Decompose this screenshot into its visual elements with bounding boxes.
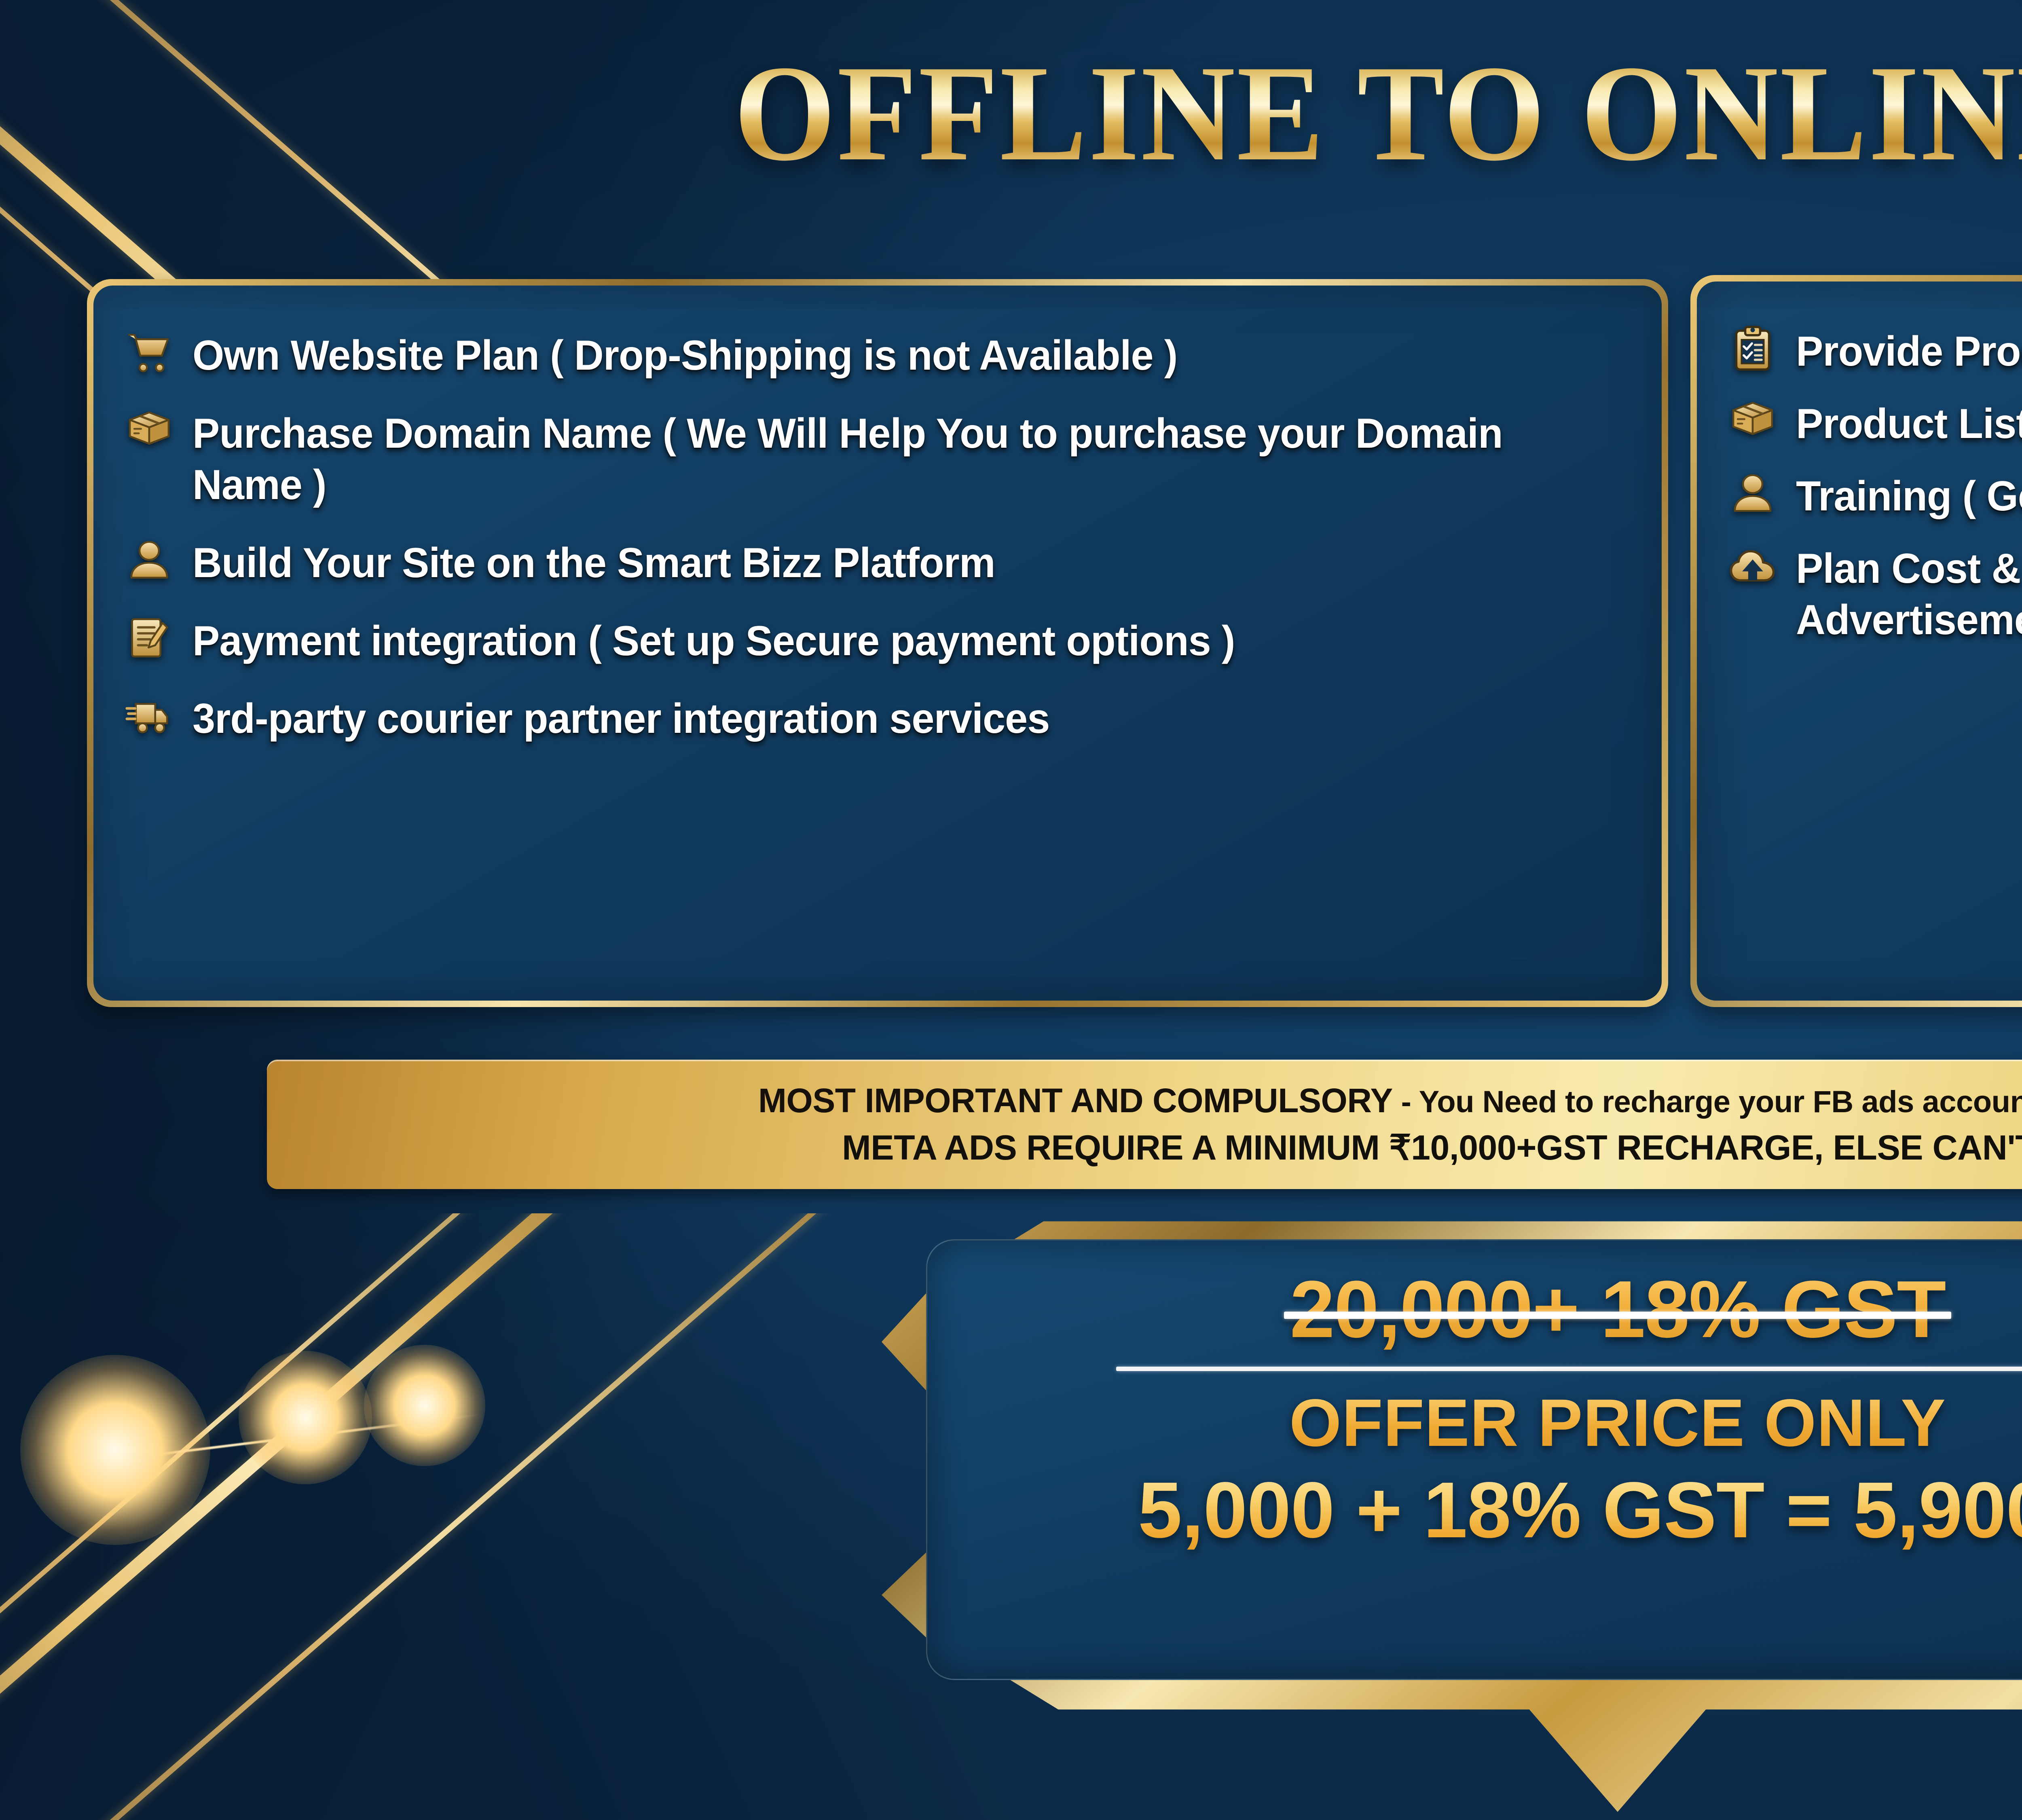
list-item-label: Purchase Domain Name ( We Will Help You … (192, 408, 1590, 511)
list-item: 3rd-party courier partner integration se… (122, 693, 1633, 745)
list-item-label: Provide Product Info ( Client provides p… (1796, 326, 2022, 377)
list-item: Product Listing ( We will List 20 produc… (1725, 398, 2022, 450)
banner-line-2: META ADS REQUIRE A MINIMUM ₹10,000+GST R… (842, 1128, 2022, 1168)
clipboard-check-icon (1725, 321, 1780, 376)
strikethrough-line (1284, 1312, 1951, 1319)
original-price: 20,000+ 18% GST (1290, 1263, 1945, 1356)
list-item-label: Payment integration ( Set up Secure paym… (192, 616, 1235, 667)
banner-line-1: MOST IMPORTANT AND COMPULSORY - You Need… (758, 1081, 2022, 1120)
list-item-label: 3rd-party courier partner integration se… (192, 693, 1049, 745)
right-feature-panel-inner: Provide Product Info ( Client provides p… (1697, 281, 2022, 1001)
list-item: Build Your Site on the Smart Bizz Platfo… (122, 538, 1633, 589)
page-title-container: OFFLINE TO ONLINE PLAN (0, 44, 2022, 182)
right-feature-panel: Provide Product Info ( Client provides p… (1690, 275, 2022, 1007)
left-feature-panel-inner: Own Website Plan ( Drop-Shipping is not … (93, 286, 1662, 1001)
offer-price-label: OFFER PRICE ONLY (1289, 1385, 1946, 1462)
glow-dot-2 (239, 1351, 372, 1484)
document-edit-icon (122, 611, 176, 665)
glow-dots-decoration (69, 1318, 554, 1561)
list-item-label: Product Listing ( We will List 20 produc… (1796, 398, 2022, 450)
cloud-upload-icon (1725, 538, 1780, 593)
glow-dot-1 (20, 1355, 210, 1545)
list-item-label: Build Your Site on the Smart Bizz Platfo… (192, 538, 995, 589)
left-feature-panel: Own Website Plan ( Drop-Shipping is not … (87, 279, 1668, 1007)
glow-dot-3 (364, 1345, 485, 1466)
package-box-icon (1725, 394, 1780, 448)
user-person-icon (122, 533, 176, 587)
user-person-icon (1725, 466, 1780, 521)
list-item: Plan Cost & Ads ( 5,000+ tax ( Plan Fee … (1725, 543, 2022, 646)
shopping-cart-icon (122, 325, 176, 380)
list-item-label: Training ( Get training for adding more … (1796, 471, 2022, 522)
list-item-label: Plan Cost & Ads ( 5,000+ tax ( Plan Fee … (1796, 543, 2022, 646)
page-title: OFFLINE TO ONLINE PLAN (734, 44, 2022, 182)
banner-line-1-rest: You Need to recharge your FB ads account… (1419, 1085, 2022, 1119)
offer-price-value: 5,000 + 18% GST = 5,900/- (1138, 1466, 2022, 1555)
list-item: Payment integration ( Set up Secure paym… (122, 616, 1633, 667)
list-item-label: Own Website Plan ( Drop-Shipping is not … (192, 330, 1177, 381)
delivery-truck-icon (122, 688, 176, 743)
price-divider (1116, 1367, 2022, 1371)
price-badge: 20,000+ 18% GST OFFER PRICE ONLY 5,000 +… (882, 1209, 2022, 1812)
banner-line-1-strong: MOST IMPORTANT AND COMPULSORY (758, 1081, 1393, 1120)
compulsory-notice-banner: MOST IMPORTANT AND COMPULSORY - You Need… (267, 1060, 2022, 1189)
original-price-text: 20,000+ 18% GST (1290, 1264, 1945, 1354)
banner-line-1-dash: - (1393, 1085, 1419, 1119)
list-item: Own Website Plan ( Drop-Shipping is not … (122, 330, 1633, 381)
package-box-icon (122, 403, 176, 458)
list-item: Provide Product Info ( Client provides p… (1725, 326, 2022, 377)
list-item: Purchase Domain Name ( We Will Help You … (122, 408, 1633, 511)
price-badge-inner: 20,000+ 18% GST OFFER PRICE ONLY 5,000 +… (926, 1239, 2022, 1680)
list-item: Training ( Get training for adding more … (1725, 471, 2022, 522)
